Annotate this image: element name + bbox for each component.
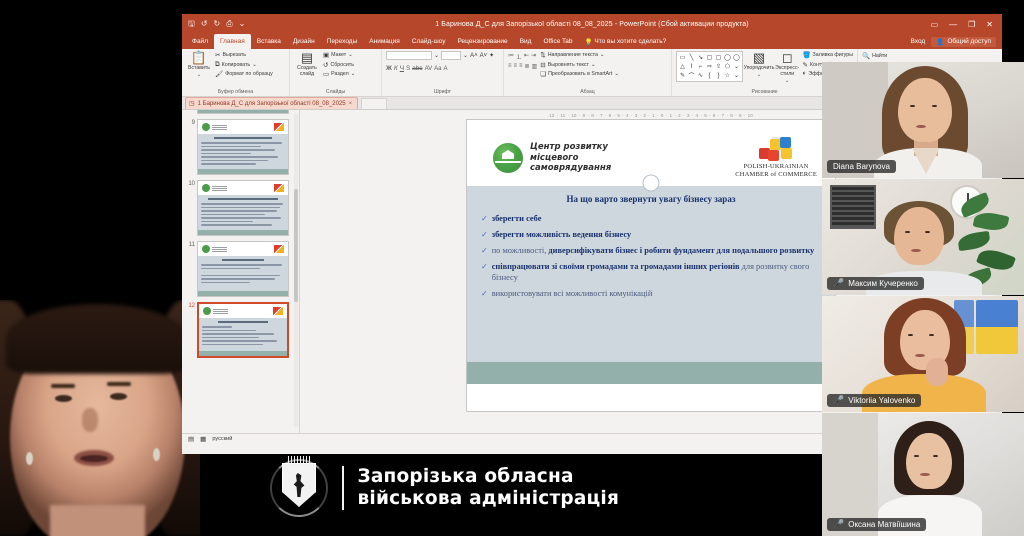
shape-triangle-icon[interactable]: △ [680, 63, 685, 70]
broadcast-lower-third: Запорізька обласна військова адміністрац… [270, 456, 650, 520]
paragraph-group-label: Абзац [508, 89, 667, 96]
thumb-puzzle-logo-icon [274, 245, 284, 253]
font-color-button[interactable]: A [443, 66, 447, 72]
bullet-text: використовувати всі можливості комунікац… [492, 288, 653, 299]
slide-bullet: ✓ зберегти себе [481, 213, 821, 224]
coat-of-arms-icon [270, 457, 328, 519]
crdlg-logo: Центр розвитку місцевого самоврядування [493, 142, 611, 174]
thumbnail-scrollbar[interactable] [294, 114, 298, 427]
section-dropdown-icon[interactable]: ⌄ [351, 71, 355, 77]
mic-off-icon: 🎤 [833, 396, 844, 405]
shapes-more-icon[interactable]: ⌄ [734, 63, 739, 70]
slide-accent-band [467, 362, 835, 384]
text-direction-dropdown-icon[interactable]: ⌄ [600, 52, 604, 58]
presenter-brow-left [51, 384, 75, 388]
align-left-icon[interactable]: ≡ [508, 63, 512, 70]
clear-formatting-icon[interactable]: ✦ [489, 52, 494, 59]
arrange-label: Упорядочить [744, 65, 775, 71]
shape-wave-icon[interactable]: ∿ [698, 72, 703, 79]
bullet-text: співпрацювати зі своїми громадами та гро… [492, 262, 740, 271]
shapes-gallery[interactable]: ▭ ╲ ↘ ▢ ▢ ◯ ◯ △ ⌇ ⌐ ⇨ ⇧ ⬠ ⌄ ✎ [676, 51, 743, 82]
bullet-lead-text: по можливості, [492, 246, 547, 255]
columns-icon[interactable]: ▥ [532, 63, 538, 70]
section-label: Раздел [331, 71, 349, 77]
paste-label: Вставить [188, 65, 210, 71]
layout-dropdown-icon[interactable]: ⌄ [348, 52, 352, 58]
smartart-dropdown-icon[interactable]: ⌄ [614, 71, 618, 77]
sign-in-link[interactable]: Вход [911, 38, 926, 45]
tab-slideshow[interactable]: Слайд-шоу [406, 34, 452, 49]
ribbon-group-clipboard: 📋 Вставить ⌄ ✂ Вырезать ⧉ Копировать ⌄ [182, 49, 290, 96]
thumb-green-logo-icon [203, 307, 211, 315]
shape-outline-icon: ✎ [802, 61, 807, 69]
shape-arrow-icon[interactable]: ↘ [698, 54, 703, 61]
thumbnail-number: 12 [184, 302, 195, 309]
close-button[interactable]: ✕ [986, 20, 993, 29]
participant-name: Максим Кучеренко [848, 279, 918, 288]
shape-arrow-right-icon[interactable]: ⇨ [707, 63, 712, 70]
tab-office-tab[interactable]: Office Tab [537, 34, 578, 49]
tell-me-box[interactable]: 💡 Что вы хотите сделать? [578, 34, 672, 49]
tab-animations[interactable]: Анимация [363, 34, 406, 49]
titlebar-account-area: Вход 👤 Общий доступ [911, 34, 1002, 49]
thumbnail-row-selected[interactable]: 12 [184, 302, 297, 358]
person-icon: 👤 [936, 38, 944, 46]
italic-button[interactable]: К [394, 65, 398, 72]
slide-object-handle[interactable] [643, 175, 660, 192]
thumb-puzzle-logo-icon [274, 123, 284, 131]
slide-bullet: ✓ співпрацювати зі своїми громадами та г… [481, 261, 821, 283]
shape-curve-icon[interactable]: ⌇ [690, 63, 693, 70]
slide-thumbnail-panel[interactable]: 9 [182, 110, 300, 433]
presenter-earring-right [153, 448, 160, 461]
slide-layout-icon[interactable]: ▤ [188, 435, 194, 443]
quick-styles-label: Экспресс-стили [775, 65, 799, 77]
participant-face [906, 433, 952, 489]
pucc-logo: POLISH-UKRAINIAN CHAMBER of COMMERCE [735, 137, 817, 179]
shape-line-icon[interactable]: ╲ [690, 54, 694, 61]
font-size-dropdown-icon[interactable]: ⌄ [463, 52, 468, 59]
shape-connector-icon[interactable]: ⌐ [699, 64, 703, 70]
wall-panel [830, 185, 876, 229]
decrease-font-size-icon[interactable]: A˅ [480, 53, 488, 59]
arrange-icon: ▧ [753, 51, 765, 64]
save-icon[interactable]: 🖫 [188, 20, 195, 28]
convert-smartart-label: Преобразовать в SmartArt [548, 71, 612, 77]
shape-oval2-icon[interactable]: ◯ [733, 54, 740, 61]
new-slide-button[interactable]: ▤ Создать слайд [294, 51, 320, 77]
slide-title: На що варто звернути увагу бізнесу зараз [481, 194, 821, 204]
presenter-brow-right [107, 382, 131, 386]
thumbnail-row[interactable]: 11 [184, 241, 297, 297]
presenter-eye-right [110, 393, 127, 400]
participant-tile[interactable]: 🎤 Максим Кучеренко [822, 179, 1024, 295]
participant-name-chip: 🎤 Максим Кучеренко [827, 277, 924, 290]
participant-name: Viktoriia Yalovenko [848, 396, 915, 405]
participant-tile[interactable]: Diana Barynova [822, 62, 1024, 178]
office-tab-empty-slot[interactable] [361, 98, 387, 109]
shape-fill-icon: 🪣 [802, 51, 810, 59]
presenter-eye-left [55, 395, 72, 402]
reset-icon: ↺ [323, 61, 328, 69]
slide-thumbnail[interactable] [197, 119, 289, 175]
thumbnail-row[interactable] [184, 110, 297, 114]
presenter-nose [82, 408, 98, 432]
font-name-input[interactable] [386, 51, 432, 60]
layout-button[interactable]: ▣ Макет ⌄ [323, 51, 355, 59]
start-slideshow-icon[interactable]: ⎙ [226, 20, 232, 28]
ribbon-group-font: ⌄ ⌄ A˄ A˅ ✦ Ж К Ч S abc AV Aa [382, 49, 504, 96]
thumb-green-logo-icon [202, 123, 210, 131]
pucc-logo-text: POLISH-UKRAINIAN CHAMBER of COMMERCE [735, 163, 817, 179]
shape-rounded-rect-icon[interactable]: ▢ [716, 54, 722, 61]
undo-icon[interactable]: ↺ [201, 20, 208, 28]
shape-effects-icon: ◐ [802, 70, 806, 77]
restore-button[interactable]: ❐ [968, 20, 975, 29]
participant-tile[interactable]: 🎤 Viktoriia Yalovenko [822, 296, 1024, 412]
check-icon: ✓ [481, 288, 488, 299]
paste-dropdown-icon[interactable]: ⌄ [197, 72, 201, 78]
slide-thumbnail[interactable] [197, 110, 289, 114]
participant-face [894, 207, 944, 265]
share-label: Общий доступ [947, 38, 991, 45]
layout-icon: ▣ [323, 51, 329, 59]
participant-face [898, 78, 952, 142]
format-painter-label: Формат по образцу [225, 71, 273, 77]
align-text-label: Выровнять текст [548, 62, 589, 68]
bullet-text: зберегти себе [492, 214, 542, 223]
title-bar: 🖫 ↺ ↻ ⎙ ⌄ 1 Баринова Д_С для Запорізької… [182, 14, 1002, 34]
text-direction-button[interactable]: ⇅ Направление текста ⌄ [540, 51, 619, 59]
notes-page-icon[interactable]: ▦ [200, 435, 206, 443]
participant-name-chip: Diana Barynova [827, 160, 896, 173]
puzzle-icon [759, 137, 793, 161]
current-slide[interactable]: Центр розвитку місцевого самоврядування [466, 119, 836, 412]
share-button[interactable]: 👤 Общий доступ [931, 37, 996, 47]
thumb-green-logo-icon [202, 245, 210, 253]
presenter-hair-top [6, 304, 188, 374]
copy-button[interactable]: ⧉ Копировать ⌄ [215, 61, 273, 69]
banner-text: Запорізька обласна військова адміністрац… [358, 466, 620, 510]
font-group-label: Шрифт [386, 89, 499, 96]
align-text-icon: ⊟ [540, 61, 545, 69]
shape-pentagon-icon[interactable]: ⬠ [725, 63, 730, 70]
participant-name: Оксана Матвіїшина [848, 520, 920, 529]
slide-bullet: ✓ використовувати всі можливості комунік… [481, 288, 821, 299]
numbering-icon[interactable]: ⒈ [516, 52, 522, 61]
increase-indent-icon[interactable]: ⇥ [531, 52, 536, 61]
new-slide-icon: ▤ [301, 51, 313, 64]
align-center-icon[interactable]: ≡ [514, 63, 518, 70]
participant-video-column: Diana Barynova 🎤 Максим Кучеренко [822, 62, 1024, 536]
change-case-button[interactable]: Aa [434, 66, 441, 72]
shape-oval-icon[interactable]: ◯ [724, 54, 731, 61]
slide-thumbnail-selected[interactable] [197, 302, 289, 358]
slide-thumbnail[interactable] [197, 180, 289, 236]
decrease-indent-icon[interactable]: ⇤ [524, 52, 529, 61]
tell-me-label: Что вы хотите сделать? [594, 38, 666, 45]
tab-home[interactable]: Главная [214, 34, 251, 49]
thumb-green-logo-icon [202, 184, 210, 192]
check-icon: ✓ [481, 245, 488, 256]
window-controls: ▭ — ❐ ✕ [931, 20, 1002, 29]
ribbon-group-paragraph: ≔⒈⇤⇥ ≡≡≡≣▥ ⇅ Направление текста ⌄ ⊟ Выро… [504, 49, 672, 96]
underline-button[interactable]: Ч [400, 65, 404, 72]
convert-smartart-button[interactable]: ❏ Преобразовать в SmartArt ⌄ [540, 70, 619, 78]
ribbon-display-options-icon[interactable]: ▭ [931, 20, 939, 29]
shape-fill-label: Заливка фигуры [813, 52, 853, 58]
ribbon-tab-bar: Файл Главная Вставка Дизайн Переходы Ани… [182, 34, 1002, 49]
arrange-button[interactable]: ▧ Упорядочить ⌄ [746, 51, 772, 78]
customize-qat-icon[interactable]: ⌄ [239, 20, 246, 28]
thumbnail-row[interactable]: 9 [184, 119, 297, 175]
find-button[interactable]: 🔍 Найти [862, 52, 900, 60]
section-icon: ▭ [323, 70, 329, 78]
clipboard-group-label: Буфер обмена [186, 89, 285, 96]
copy-icon: ⧉ [215, 61, 220, 69]
text-direction-icon: ⇅ [540, 51, 545, 59]
close-icon[interactable]: × [349, 101, 353, 107]
banner-line-1: Запорізька обласна [358, 466, 620, 488]
ribbon-group-slides: ▤ Создать слайд ▣ Макет ⌄ ↺ Сбросить [290, 49, 382, 96]
copy-dropdown-icon[interactable]: ⌄ [252, 62, 256, 68]
scissors-icon: ✂ [215, 51, 220, 59]
align-text-button[interactable]: ⊟ Выровнять текст ⌄ [540, 61, 619, 69]
thumbnail-number: 9 [184, 119, 195, 126]
tab-review[interactable]: Рецензирование [451, 34, 513, 49]
redo-icon[interactable]: ↻ [214, 20, 221, 28]
thumbnail-number: 10 [184, 180, 195, 187]
slide-bullet: ✓ по можливості, диверсифікувати бізнес … [481, 245, 821, 256]
shape-arrow-up-icon[interactable]: ⇧ [716, 63, 721, 70]
slides-group-label: Слайды [294, 89, 377, 96]
check-icon: ✓ [481, 213, 488, 224]
office-tab-label: 1 Баринова Д_С для Запорізької області 0… [198, 101, 346, 107]
shape-textbox-icon[interactable]: ▭ [680, 54, 686, 61]
bullet-text: диверсифікувати бізнес і робити фундамен… [548, 246, 814, 255]
find-label: Найти [872, 53, 887, 59]
character-spacing-button[interactable]: AV [425, 66, 433, 72]
align-text-dropdown-icon[interactable]: ⌄ [591, 62, 595, 68]
powerpoint-file-icon: ◳ [189, 100, 195, 107]
align-right-icon[interactable]: ≡ [519, 63, 523, 70]
tab-view[interactable]: Вид [514, 34, 538, 49]
mic-off-icon: 🎤 [833, 520, 844, 529]
mic-off-icon: 🎤 [833, 279, 844, 288]
shape-brace-left-icon[interactable]: { [708, 73, 710, 79]
smartart-icon: ❏ [540, 70, 546, 78]
bullets-icon[interactable]: ≔ [508, 52, 514, 61]
office-tab-document[interactable]: ◳ 1 Баринова Д_С для Запорізької області… [185, 97, 358, 109]
slide-content-body[interactable]: На що варто звернути увагу бізнесу зараз… [467, 186, 835, 384]
bold-button[interactable]: Ж [386, 65, 392, 72]
arrange-dropdown-icon[interactable]: ⌄ [757, 72, 761, 78]
lightbulb-icon: 💡 [584, 38, 592, 46]
presenter-webcam-feed [0, 300, 200, 536]
reset-button[interactable]: ↺ Сбросить [323, 61, 355, 69]
copy-label: Копировать [222, 62, 251, 68]
layout-label: Макет [331, 52, 346, 58]
quick-styles-button[interactable]: ◻ Экспресс-стили ⌄ [775, 51, 799, 84]
strikethrough-button[interactable]: abc [412, 65, 422, 72]
presenter-earring-left [26, 452, 33, 465]
format-painter-button[interactable]: 🖌 Формат по образцу [215, 70, 273, 78]
increase-font-size-icon[interactable]: A˄ [470, 53, 478, 59]
shape-arc-icon[interactable]: ⌒ [688, 71, 694, 80]
participant-tile[interactable]: 🎤 Оксана Матвіїшина [822, 413, 1024, 536]
tab-insert[interactable]: Вставка [251, 34, 287, 49]
paste-button[interactable]: 📋 Вставить ⌄ [186, 51, 212, 78]
text-direction-label: Направление текста [548, 52, 598, 58]
crdlg-mark-icon [493, 143, 523, 173]
clipboard-icon: 📋 [191, 51, 207, 64]
section-button[interactable]: ▭ Раздел ⌄ [323, 70, 355, 78]
reset-label: Сбросить [330, 62, 354, 68]
tab-transitions[interactable]: Переходы [321, 34, 364, 49]
paintbrush-icon: 🖌 [215, 70, 223, 78]
quick-styles-dropdown-icon[interactable]: ⌄ [785, 78, 789, 84]
banner-line-2: військова адміністрація [358, 488, 620, 510]
quick-access-toolbar: 🖫 ↺ ↻ ⎙ ⌄ [182, 20, 245, 28]
shape-star-icon[interactable]: ☆ [725, 72, 730, 79]
shape-rect-icon[interactable]: ▢ [707, 54, 713, 61]
shape-brace-right-icon[interactable]: } [717, 73, 719, 79]
check-icon: ✓ [481, 229, 488, 240]
banner-divider [342, 466, 344, 510]
presenter-neck [50, 505, 145, 536]
bullet-text: зберегти можливість ведення бізнесу [492, 230, 631, 239]
quick-styles-icon: ◻ [782, 51, 793, 64]
thumbnail-row[interactable]: 10 [184, 180, 297, 236]
thumb-puzzle-logo-icon [273, 307, 283, 315]
shapes-scroll-icon[interactable]: ⌄ [734, 72, 739, 79]
presenter-mouth-inner [80, 455, 108, 462]
participant-name: Diana Barynova [833, 162, 890, 171]
shape-fill-button[interactable]: 🪣 Заливка фигуры [802, 51, 853, 59]
cut-label: Вырезать [222, 52, 246, 58]
justify-icon[interactable]: ≣ [525, 63, 530, 70]
check-icon: ✓ [481, 261, 488, 283]
document-title: 1 Баринова Д_С для Запорізької області 0… [182, 21, 1002, 28]
new-slide-label: Создать слайд [294, 65, 320, 77]
minimize-button[interactable]: — [949, 20, 957, 29]
text-shadow-button[interactable]: S [406, 66, 410, 72]
font-name-dropdown-icon[interactable]: ⌄ [434, 52, 439, 59]
cut-button[interactable]: ✂ Вырезать [215, 51, 273, 59]
ukraine-flag-icon [976, 300, 1018, 354]
font-size-input[interactable] [441, 51, 461, 60]
broadcast-stage: 🖫 ↺ ↻ ⎙ ⌄ 1 Баринова Д_С для Запорізької… [0, 0, 1024, 536]
crdlg-logo-text: Центр розвитку місцевого самоврядування [530, 142, 611, 174]
participant-name-chip: 🎤 Viktoriia Yalovenko [827, 394, 921, 407]
language-label[interactable]: русский [212, 436, 232, 442]
thumb-puzzle-logo-icon [274, 184, 284, 192]
search-icon: 🔍 [862, 52, 870, 60]
participant-name-chip: 🎤 Оксана Матвіїшина [827, 518, 926, 531]
tab-file[interactable]: Файл [186, 34, 214, 49]
shape-scribble-icon[interactable]: ✎ [680, 72, 685, 79]
tab-design[interactable]: Дизайн [287, 34, 321, 49]
slide-thumbnail[interactable] [197, 241, 289, 297]
thumbnail-number: 11 [184, 241, 195, 248]
slide-bullet: ✓ зберегти можливість ведення бізнесу [481, 229, 821, 240]
participant-hand [926, 358, 948, 386]
